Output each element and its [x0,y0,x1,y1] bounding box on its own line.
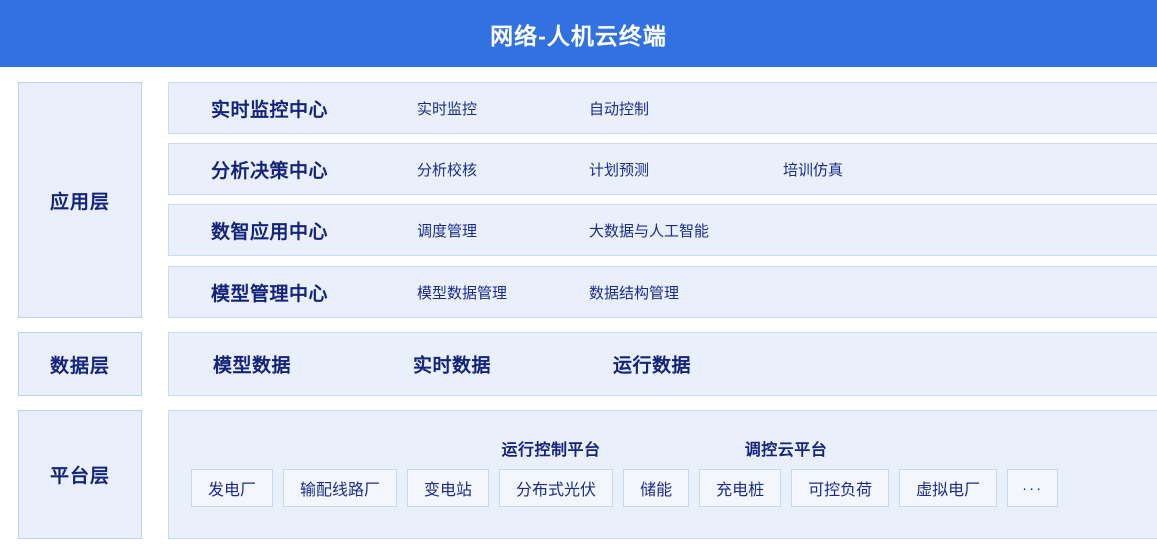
platform-chip-label: 输配线路厂 [300,476,380,500]
diagram-body: 应用层 实时监控中心 实时监控 自动控制 分析决策中心 分析校核 计划预测 培训… [0,67,1157,545]
layer-label-platform: 平台层 [18,410,142,539]
platform-chip-charging-pile[interactable]: 充电桩 [699,469,781,507]
data-layer-item[interactable]: 运行数据 [613,351,691,378]
platform-chip-label: 充电桩 [716,476,764,500]
app-row-analysis-decision[interactable]: 分析决策中心 分析校核 计划预测 培训仿真 [168,143,1157,195]
platform-heading-operation-control: 运行控制平台 [501,436,600,460]
app-row-model-management[interactable]: 模型管理中心 模型数据管理 数据结构管理 [168,266,1157,318]
platform-chip-label: 可控负荷 [808,476,872,500]
layer-label-platform-text: 平台层 [50,461,110,488]
platform-chip-label: 变电站 [424,476,472,500]
header-bar: 网络-人机云终端 [0,0,1157,67]
app-sub-item[interactable]: 分析校核 [417,159,477,180]
page-title: 网络-人机云终端 [490,17,667,51]
platform-chip-label: 分布式光伏 [516,476,596,500]
app-sub-item[interactable]: 数据结构管理 [589,282,679,303]
platform-chip-energy-storage[interactable]: 储能 [623,469,689,507]
app-row-title: 模型管理中心 [211,279,328,306]
platform-chip-transmission-line[interactable]: 输配线路厂 [283,469,397,507]
platform-chip-virtual-power-plant[interactable]: 虚拟电厂 [899,469,997,507]
platform-chip-distributed-pv[interactable]: 分布式光伏 [499,469,613,507]
app-sub-item[interactable]: 实时监控 [417,98,477,119]
platform-layer-panel: 运行控制平台 调控云平台 发电厂 输配线路厂 变电站 分布式光伏 储能 [168,410,1157,539]
app-sub-item[interactable]: 调度管理 [417,220,477,241]
layer-label-data: 数据层 [18,332,142,396]
app-sub-item[interactable]: 模型数据管理 [417,282,507,303]
layer-label-application: 应用层 [18,82,142,318]
platform-chip-controllable-load[interactable]: 可控负荷 [791,469,889,507]
data-layer-item[interactable]: 实时数据 [413,351,491,378]
app-sub-item[interactable]: 大数据与人工智能 [589,220,709,241]
layer-label-application-text: 应用层 [50,187,110,214]
platform-chip-label: 发电厂 [208,476,256,500]
app-row-title: 数智应用中心 [211,217,328,244]
app-sub-item[interactable]: 培训仿真 [783,159,843,180]
platform-chip-more-ellipsis[interactable]: ··· [1007,469,1058,507]
app-row-title: 分析决策中心 [211,156,328,183]
app-row-realtime-monitoring[interactable]: 实时监控中心 实时监控 自动控制 [168,82,1157,134]
ellipsis-icon: ··· [1022,480,1043,497]
data-layer-panel: 模型数据 实时数据 运行数据 [168,332,1157,396]
app-row-digital-intelligence[interactable]: 数智应用中心 调度管理 大数据与人工智能 [168,204,1157,256]
platform-chip-label: 虚拟电厂 [916,476,980,500]
app-sub-item[interactable]: 计划预测 [589,159,649,180]
platform-chip-label: 储能 [640,476,672,500]
diagram-page: 网络-人机云终端 应用层 实时监控中心 实时监控 自动控制 分析决策中心 分析校… [0,0,1157,545]
platform-chip-list: 发电厂 输配线路厂 变电站 分布式光伏 储能 充电桩 可控负荷 [191,469,1058,507]
platform-chip-substation[interactable]: 变电站 [407,469,489,507]
app-sub-item[interactable]: 自动控制 [589,98,649,119]
app-row-title: 实时监控中心 [211,95,328,122]
data-layer-item[interactable]: 模型数据 [213,351,291,378]
platform-heading-dispatch-cloud: 调控云平台 [745,436,828,460]
layer-label-data-text: 数据层 [50,351,110,378]
platform-chip-power-plant[interactable]: 发电厂 [191,469,273,507]
